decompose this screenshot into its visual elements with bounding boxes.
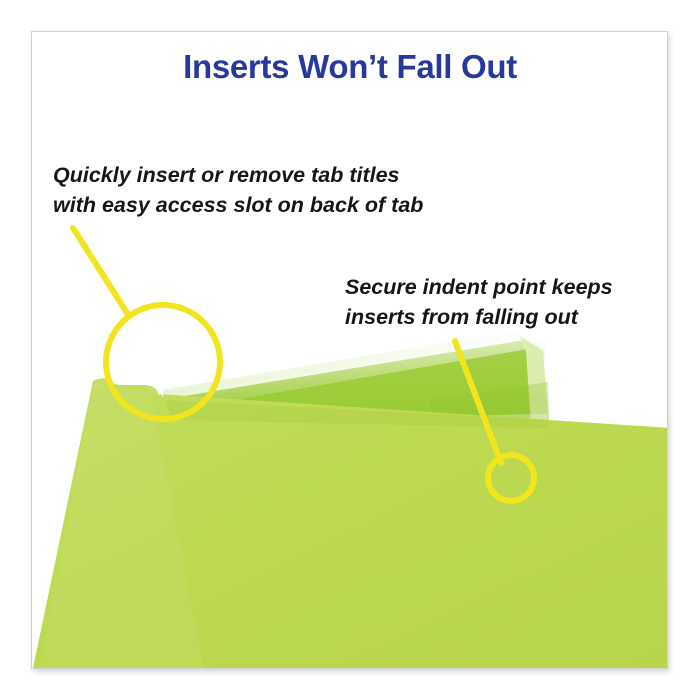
indent-point-callout-line-2: inserts from falling out bbox=[345, 302, 613, 332]
access-slot-callout-line-1: Quickly insert or remove tab titles bbox=[53, 160, 423, 190]
page-title: Inserts Won’t Fall Out bbox=[0, 48, 700, 86]
product-photo bbox=[0, 0, 700, 700]
access-slot-callout: Quickly insert or remove tab titles with… bbox=[53, 160, 423, 220]
leader-line-left bbox=[73, 228, 129, 316]
product-infographic: Inserts Won’t Fall Out Quickly insert or… bbox=[0, 0, 700, 700]
indent-point-callout: Secure indent point keeps inserts from f… bbox=[345, 272, 613, 332]
access-slot-callout-line-2: with easy access slot on back of tab bbox=[53, 190, 423, 220]
divider-sheet bbox=[33, 378, 700, 700]
indent-point-callout-line-1: Secure indent point keeps bbox=[345, 272, 613, 302]
